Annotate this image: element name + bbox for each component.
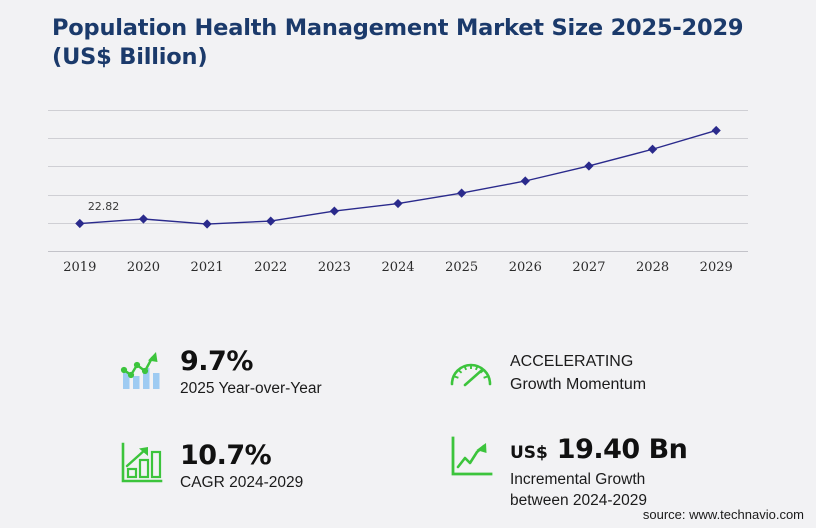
stat-card-incremental-growth: US$ 19.40 Bn Incremental Growth between … — [448, 434, 687, 511]
line-chart-arrow-icon — [448, 434, 494, 480]
x-tick-2023: 2023 — [303, 255, 367, 279]
key-metrics-panel: 9.7% 2025 Year-over-Year 10.7% CAGR 2024… — [0, 322, 816, 508]
x-tick-2029: 2029 — [684, 255, 748, 279]
stat-card-year-over-year: 9.7% 2025 Year-over-Year — [118, 346, 322, 399]
series-markers — [75, 126, 721, 229]
bar-line-growth-icon — [118, 346, 164, 392]
speedometer-icon — [448, 350, 494, 396]
chart-x-axis: 2019 2020 2021 2022 2023 2024 2025 2026 … — [48, 255, 748, 279]
data-point-2022 — [266, 216, 275, 225]
chart-series-population-health-market-size — [48, 110, 748, 252]
stat-text-cagr: 10.7% CAGR 2024-2029 — [180, 440, 303, 493]
data-point-2027 — [584, 161, 593, 170]
data-point-2025 — [457, 189, 466, 198]
bar-chart-arrow-icon — [118, 440, 164, 486]
data-point-2026 — [521, 176, 530, 185]
stat-caption-growth-momentum: Growth Momentum — [510, 373, 646, 396]
data-point-2028 — [648, 145, 657, 154]
source-note: source: www.technavio.com — [643, 507, 804, 522]
stat-text-incremental-growth: US$ 19.40 Bn Incremental Growth between … — [510, 434, 687, 511]
data-point-label-2019: 22.82 — [88, 200, 120, 213]
x-tick-2028: 2028 — [621, 255, 685, 279]
stat-value-incremental-growth: US$ 19.40 Bn — [510, 434, 687, 469]
stat-headline-growth-momentum: ACCELERATING — [510, 350, 646, 373]
line-chart: 22.82 2019 2020 2021 2022 2023 2024 2025… — [0, 92, 816, 282]
stat-caption-incremental-growth-line1: Incremental Growth — [510, 469, 687, 490]
page-title: Population Health Management Market Size… — [52, 14, 752, 72]
x-tick-2022: 2022 — [239, 255, 303, 279]
stat-value-year-over-year: 9.7% — [180, 346, 322, 378]
stat-text-year-over-year: 9.7% 2025 Year-over-Year — [180, 346, 322, 399]
data-point-2020 — [139, 214, 148, 223]
data-point-2029 — [712, 126, 721, 135]
data-point-2023 — [330, 206, 339, 215]
x-tick-2024: 2024 — [366, 255, 430, 279]
stat-unit-incremental-growth: US$ — [510, 443, 548, 463]
series-line — [80, 130, 716, 224]
stat-card-growth-momentum: ACCELERATING Growth Momentum — [448, 350, 646, 396]
x-tick-2026: 2026 — [493, 255, 557, 279]
chart-plot-area: 22.82 — [48, 110, 748, 252]
data-point-2021 — [202, 219, 211, 228]
page-title-line-2: (US$ Billion) — [52, 43, 752, 72]
x-tick-2019: 2019 — [48, 255, 112, 279]
x-tick-2025: 2025 — [430, 255, 494, 279]
data-point-2019 — [75, 219, 84, 228]
x-tick-2021: 2021 — [175, 255, 239, 279]
x-tick-2027: 2027 — [557, 255, 621, 279]
stat-amount-incremental-growth: 19.40 Bn — [557, 434, 688, 465]
data-point-2024 — [393, 199, 402, 208]
x-tick-2020: 2020 — [112, 255, 176, 279]
stat-caption-year-over-year: 2025 Year-over-Year — [180, 378, 322, 399]
stat-text-growth-momentum: ACCELERATING Growth Momentum — [510, 350, 646, 396]
stat-caption-cagr: CAGR 2024-2029 — [180, 472, 303, 493]
page-title-line-1: Population Health Management Market Size… — [52, 14, 752, 43]
stat-card-cagr: 10.7% CAGR 2024-2029 — [118, 440, 303, 493]
stat-value-cagr: 10.7% — [180, 440, 303, 472]
